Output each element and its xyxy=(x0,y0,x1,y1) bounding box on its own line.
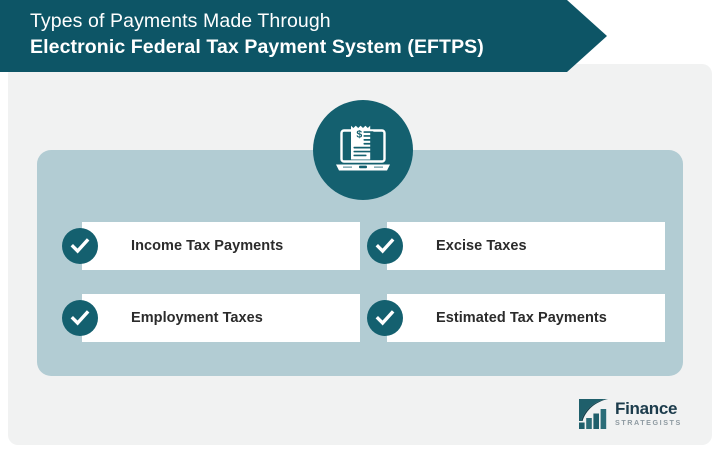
payment-type-card[interactable]: Employment Taxes xyxy=(82,294,360,342)
bar-chart-swoosh-logo-icon xyxy=(578,398,612,430)
payment-type-label: Excise Taxes xyxy=(387,238,527,254)
hero-icon-badge: $ xyxy=(313,100,413,200)
payment-type-label: Estimated Tax Payments xyxy=(387,310,607,326)
check-circle-icon xyxy=(367,300,403,336)
header-title-line-2: Electronic Federal Tax Payment System (E… xyxy=(30,34,607,61)
payment-type-card[interactable]: Estimated Tax Payments xyxy=(387,294,665,342)
payment-type-card[interactable]: Income Tax Payments xyxy=(82,222,360,270)
header-banner: Types of Payments Made Through Electroni… xyxy=(0,0,607,72)
laptop-invoice-icon: $ xyxy=(334,123,392,177)
payment-type-card[interactable]: Excise Taxes xyxy=(387,222,665,270)
check-circle-icon xyxy=(62,228,98,264)
check-circle-icon xyxy=(367,228,403,264)
payment-type-label: Employment Taxes xyxy=(82,310,263,326)
brand-tagline: STRATEGISTS xyxy=(615,418,682,428)
check-circle-icon xyxy=(62,300,98,336)
brand-name: Finance xyxy=(615,400,682,417)
infographic-root: Types of Payments Made Through Electroni… xyxy=(0,0,720,453)
header-title-line-1: Types of Payments Made Through xyxy=(30,9,607,34)
brand-logo-text: Finance STRATEGISTS xyxy=(615,400,682,428)
svg-text:$: $ xyxy=(356,129,362,141)
payment-type-label: Income Tax Payments xyxy=(82,238,283,254)
brand-logo[interactable]: Finance STRATEGISTS xyxy=(578,395,694,433)
